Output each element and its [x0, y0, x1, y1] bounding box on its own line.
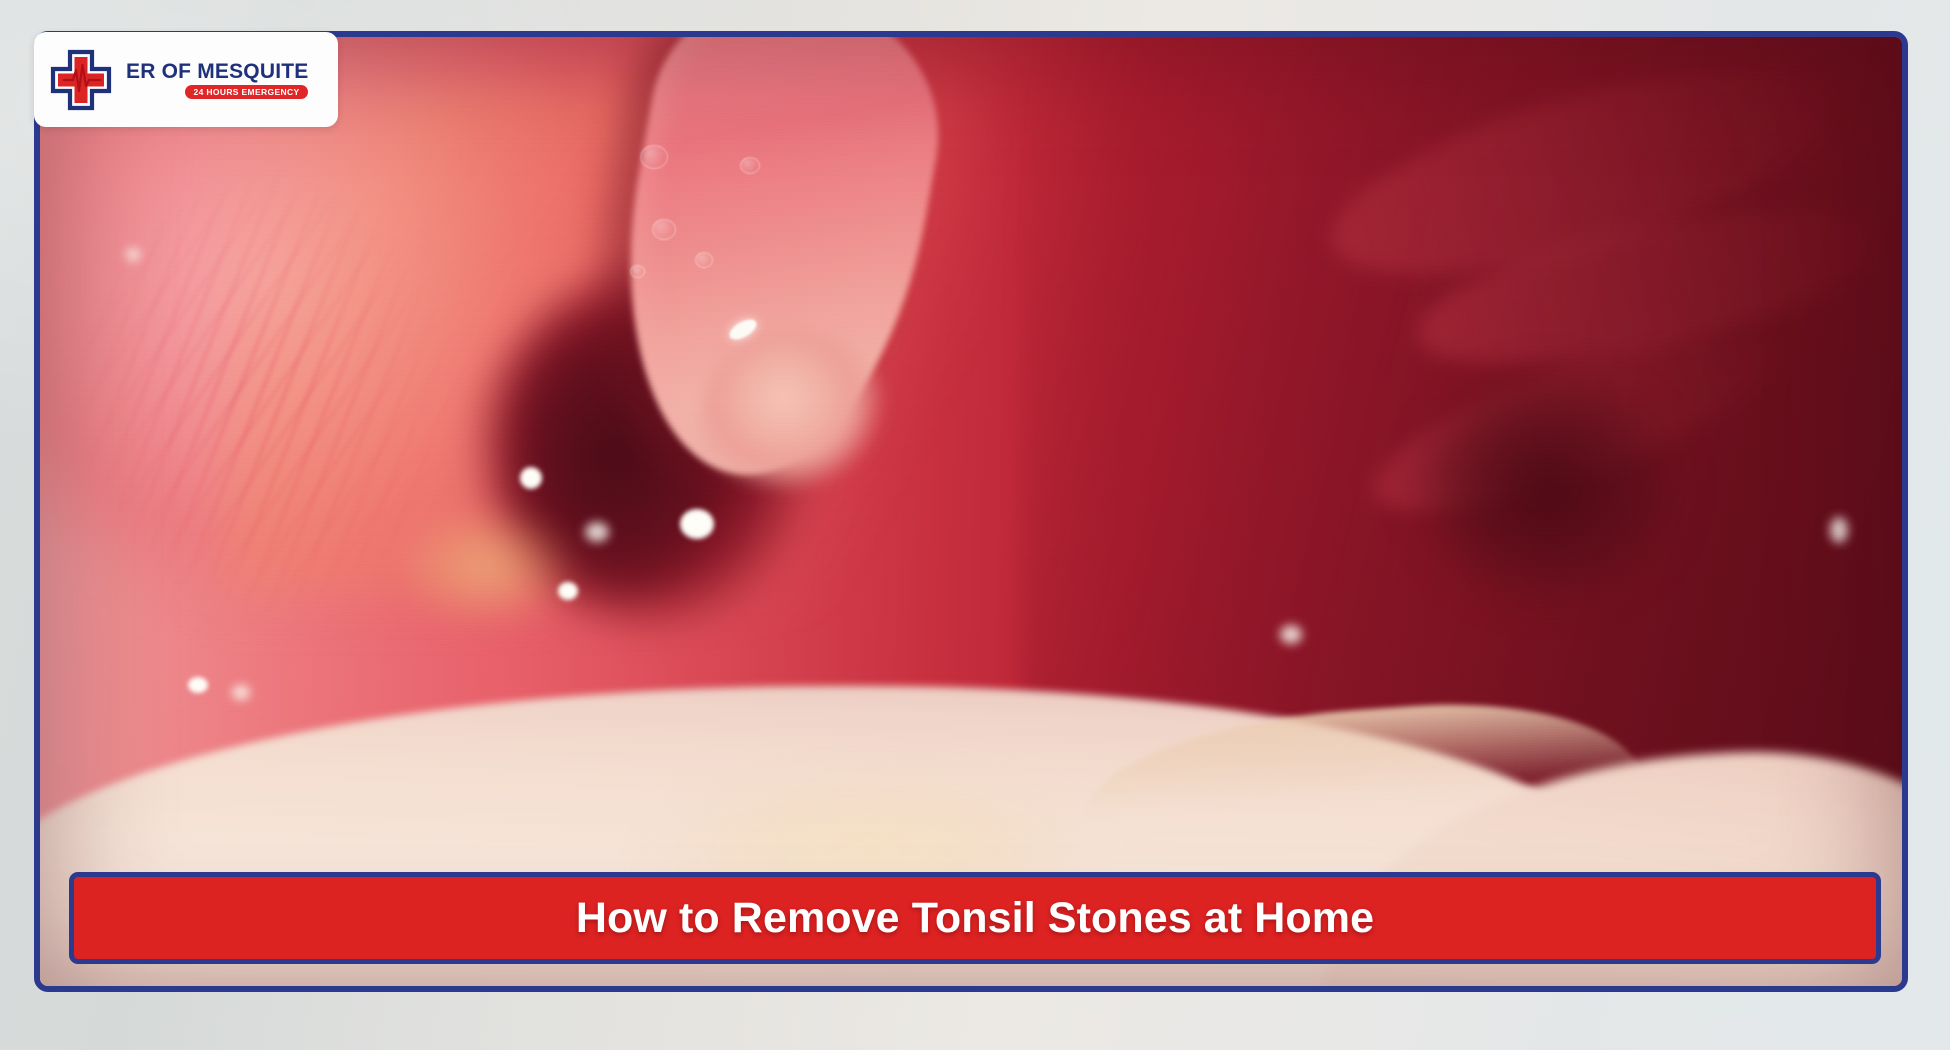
brand-tagline-pill: 24 HOURS EMERGENCY — [185, 85, 309, 99]
throat-photograph — [40, 37, 1902, 986]
page-title: How to Remove Tonsil Stones at Home — [576, 897, 1374, 940]
brand-logo-badge[interactable]: ER OF MESQUITE 24 HOURS EMERGENCY — [34, 32, 338, 127]
page-root: ER OF MESQUITE 24 HOURS EMERGENCY How to… — [0, 0, 1950, 1050]
title-banner: How to Remove Tonsil Stones at Home — [69, 872, 1881, 964]
media-card — [34, 31, 1908, 992]
brand-name: ER OF MESQUITE — [126, 61, 308, 82]
photo-vignette — [40, 37, 1902, 986]
medical-cross-heartbeat-icon — [46, 45, 116, 115]
brand-text-block: ER OF MESQUITE 24 HOURS EMERGENCY — [126, 61, 308, 99]
